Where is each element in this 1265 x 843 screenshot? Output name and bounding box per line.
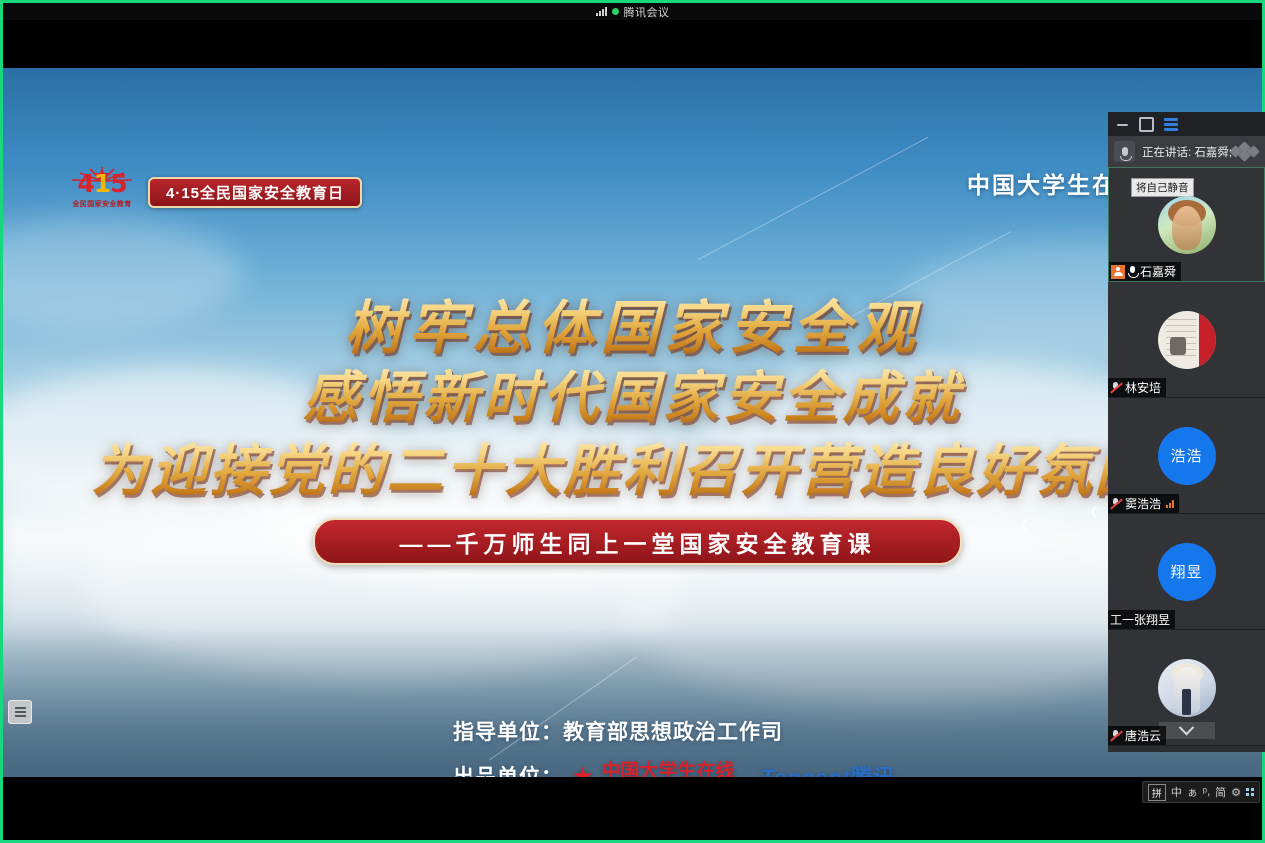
slide-title-line-3: 为迎接党的二十大胜利召开营造良好氛围 bbox=[3, 426, 1252, 507]
tencent-logo-en: Tencent bbox=[760, 765, 851, 777]
ime-toolbar[interactable]: 拼 中 ぁ ᵖ, 简 ⚙ bbox=[1142, 781, 1260, 803]
mic-button[interactable] bbox=[1114, 141, 1135, 162]
tencent-logo: Tencent腾讯 bbox=[760, 760, 895, 777]
list-icon bbox=[15, 707, 26, 717]
chevron-down-icon bbox=[1179, 720, 1195, 736]
city-haze bbox=[3, 627, 1262, 777]
shared-slide: ❮ ❮ ❮ ❮ 415 全民国家安全教育 4·15全民国家安全教育日 中国大学生… bbox=[3, 68, 1262, 777]
green-status-dot bbox=[612, 8, 619, 15]
avatar bbox=[1158, 311, 1216, 369]
participant-tile[interactable]: 林安培 bbox=[1108, 282, 1265, 398]
participant-name: 唐浩云 bbox=[1125, 727, 1161, 744]
dxs-logo: ★ 中国大学生在线 dxs.moe.gov.cn bbox=[571, 762, 734, 777]
participant-namebar: 工一张翔昱 bbox=[1108, 610, 1175, 629]
panel-titlebar bbox=[1108, 112, 1265, 136]
participant-name: 工一张翔昱 bbox=[1110, 611, 1170, 628]
slide-subtitle-banner: ——千万师生同上一堂国家安全教育课 bbox=[313, 518, 962, 565]
scroll-down-button[interactable] bbox=[1159, 722, 1215, 739]
participant-name: 窦浩浩 bbox=[1125, 495, 1161, 512]
mic-off-icon bbox=[1110, 381, 1123, 394]
avatar: 浩浩 bbox=[1158, 427, 1216, 485]
host-badge-icon bbox=[1111, 265, 1125, 279]
screen-root: 腾讯会议 ❮ ❮ ❮ ❮ bbox=[0, 0, 1265, 843]
speaking-status-bar: 正在讲话: 石嘉舜; bbox=[1108, 136, 1265, 167]
credit-producer-label: 出品单位： bbox=[453, 761, 563, 777]
national-security-day-logo: 415 全民国家安全教育 bbox=[65, 167, 139, 219]
security-day-badge: 4·15全民国家安全教育日 bbox=[148, 177, 362, 208]
credit-guidance-label: 指导单位： bbox=[453, 716, 563, 746]
slide-menu-button[interactable] bbox=[8, 700, 32, 724]
avatar-art bbox=[1182, 689, 1191, 715]
ime-tray-icon[interactable] bbox=[1246, 788, 1254, 796]
top-system-bar: 腾讯会议 bbox=[3, 3, 1262, 20]
participant-name: 石嘉舜 bbox=[1140, 263, 1176, 280]
maximize-icon[interactable] bbox=[1139, 117, 1154, 132]
signal-bars-icon bbox=[1166, 500, 1174, 508]
minimize-icon[interactable] bbox=[1116, 118, 1129, 131]
participant-namebar: 林安培 bbox=[1108, 378, 1166, 397]
drag-handle-icon[interactable] bbox=[1231, 144, 1261, 160]
participant-namebar: 窦浩浩 bbox=[1108, 494, 1179, 513]
microphone-icon bbox=[1122, 147, 1128, 156]
ime-settings-gear-icon[interactable]: ⚙ bbox=[1231, 786, 1241, 799]
ime-language-icon[interactable]: 中 bbox=[1171, 784, 1182, 800]
mute-self-tooltip: 将自己静音 bbox=[1131, 178, 1194, 197]
dxs-logo-cn: 中国大学生在线 bbox=[601, 762, 734, 777]
tencent-logo-cn: 腾讯 bbox=[851, 765, 895, 777]
mic-on-icon bbox=[1127, 265, 1138, 278]
participant-tile[interactable]: 浩浩 窦浩浩 bbox=[1108, 398, 1265, 514]
ime-fullwidth-icon[interactable]: ぁ bbox=[1187, 784, 1198, 800]
meeting-participants-panel: 正在讲话: 石嘉舜; 将自己静音 石嘉舜 bbox=[1108, 112, 1265, 752]
avatar-initials: 翔昱 bbox=[1170, 561, 1202, 582]
signal-bars-icon bbox=[596, 7, 607, 16]
avatar-initials: 浩浩 bbox=[1170, 445, 1202, 466]
participant-namebar: 石嘉舜 bbox=[1109, 262, 1181, 281]
participant-tile[interactable]: 翔昱 工一张翔昱 bbox=[1108, 514, 1265, 630]
participant-tile[interactable]: 将自己静音 石嘉舜 bbox=[1108, 167, 1265, 282]
credit-producer: 出品单位： ★ 中国大学生在线 dxs.moe.gov.cn Tencent腾讯 bbox=[453, 760, 895, 777]
topbar-app-title: 腾讯会议 bbox=[624, 4, 670, 20]
bird-icon: ❮ bbox=[1019, 518, 1029, 530]
ime-punctuation-icon[interactable]: ᵖ, bbox=[1203, 786, 1210, 798]
avatar bbox=[1158, 196, 1216, 254]
avatar bbox=[1158, 659, 1216, 717]
avatar-art bbox=[1170, 337, 1186, 355]
mic-off-icon bbox=[1110, 497, 1123, 510]
participant-tile[interactable]: 唐浩云 bbox=[1108, 630, 1265, 746]
ime-simplified-icon[interactable]: 简 bbox=[1215, 784, 1226, 800]
participant-namebar: 唐浩云 bbox=[1108, 726, 1166, 745]
participant-name: 林安培 bbox=[1125, 379, 1161, 396]
slide-title-line-2: 感悟新时代国家安全成就 bbox=[3, 353, 1262, 434]
bottom-bar bbox=[3, 777, 1262, 840]
avatar: 翔昱 bbox=[1158, 543, 1216, 601]
speaking-status-label: 正在讲话: 石嘉舜; bbox=[1142, 144, 1232, 160]
mic-off-icon bbox=[1110, 729, 1123, 742]
avatar-art bbox=[1199, 311, 1216, 369]
credit-guidance-value: 教育部思想政治工作司 bbox=[563, 716, 783, 746]
avatar-art bbox=[1172, 206, 1202, 250]
logo-number: 415 bbox=[65, 167, 139, 201]
credit-guidance: 指导单位： 教育部思想政治工作司 bbox=[453, 716, 783, 746]
light-streak bbox=[698, 137, 928, 260]
dxs-star-icon: ★ bbox=[571, 763, 595, 777]
ime-mode-key[interactable]: 拼 bbox=[1148, 784, 1166, 801]
panel-menu-icon[interactable] bbox=[1164, 118, 1178, 131]
